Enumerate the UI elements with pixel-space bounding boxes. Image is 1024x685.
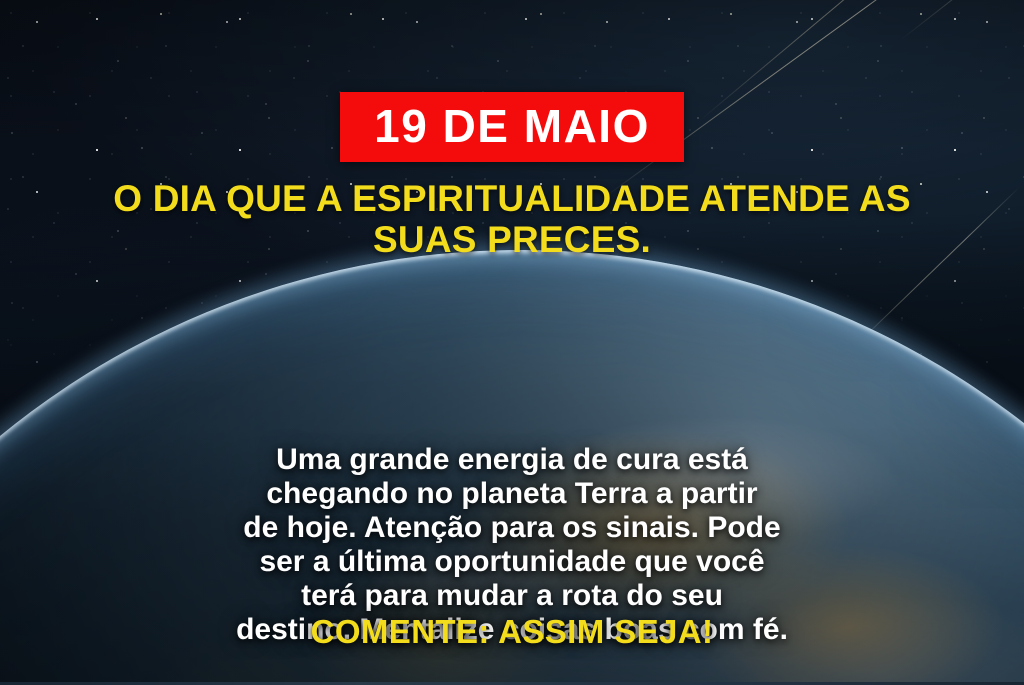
headline-text: O DIA QUE A ESPIRITUALIDADE ATENDE AS SU… [72,179,952,260]
body-line: ser a última oportunidade que você [67,545,957,579]
body-line: de hoje. Atenção para os sinais. Pode [67,511,957,545]
body-line: Uma grande energia de cura está [67,443,957,477]
body-line: chegando no planeta Terra a partir [67,477,957,511]
poster-canvas: 19 DE MAIO O DIA QUE A ESPIRITUALIDADE A… [0,0,1024,685]
call-to-action-text: COMENTE: ASSIM SEJA! [311,613,714,651]
body-line: terá para mudar a rota do seu [67,579,957,613]
date-banner: 19 DE MAIO [340,92,684,162]
